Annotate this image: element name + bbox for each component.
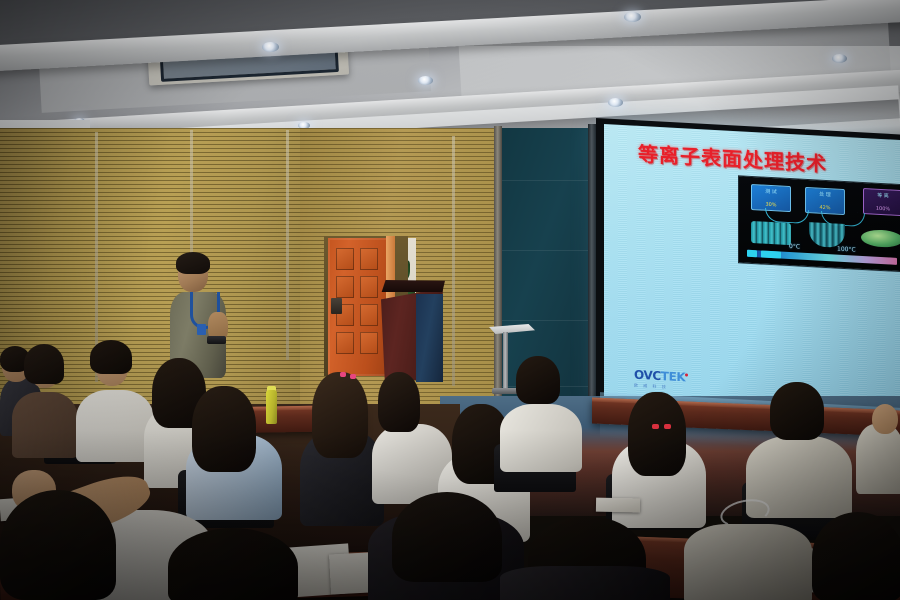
downlight-icon	[262, 42, 279, 52]
brand-logo: OVCTEK 欧 威 科 技	[634, 368, 688, 392]
slide-diagram: 测 试 30% 处 理 42% 等 离 100% 0°C 100°C	[738, 175, 900, 272]
audience-hair-front	[392, 492, 502, 582]
wall-trim	[494, 126, 502, 428]
audience-body-front	[500, 566, 670, 600]
diagram-panel-3-sub: 100%	[864, 205, 900, 213]
wall-seam	[286, 130, 289, 360]
diagram-panel-1-label: 测 试	[752, 187, 790, 196]
handout-paper[interactable]	[596, 498, 640, 513]
diagram-panel-3-label: 等 离	[864, 191, 900, 200]
audience-hair-front	[812, 512, 900, 600]
audience-body-front	[684, 524, 812, 600]
diagram-panel-3: 等 离 100%	[863, 188, 900, 216]
presenter-badge	[197, 324, 206, 335]
presenter-hair	[176, 252, 210, 274]
hair-clip-icon	[340, 372, 346, 377]
downlight-icon	[832, 54, 847, 63]
diagram-panel-2-label: 处 理	[806, 190, 844, 199]
audience-hair	[90, 340, 132, 374]
wall-seam	[452, 136, 455, 386]
audience-head	[872, 404, 898, 434]
audience-hair	[516, 356, 560, 404]
logo-text-dark: OVC	[634, 368, 661, 383]
temperature-swatch	[747, 250, 757, 258]
downlight-icon	[418, 76, 433, 85]
diagram-coil-shape	[751, 221, 791, 245]
lecture-hall-photo: 等离子表面处理技术 测 试 30% 处 理 42% 等 离 100% 0°C	[0, 0, 900, 600]
audience-hair	[628, 392, 686, 476]
hair-clip-icon	[350, 374, 356, 379]
audience-hair	[24, 344, 64, 384]
logo-dot-icon	[685, 373, 688, 376]
downlight-icon	[624, 12, 641, 22]
hair-tie-icon	[652, 424, 659, 429]
podium-side	[416, 294, 443, 382]
beverage-bottle	[266, 390, 277, 424]
audience-body	[12, 392, 78, 458]
temperature-swatch	[761, 251, 781, 259]
audience-hair-front	[168, 528, 298, 600]
projection-screen[interactable]: 等离子表面处理技术 测 试 30% 处 理 42% 等 离 100% 0°C	[604, 124, 900, 416]
diagram-droplet-shape	[861, 229, 900, 248]
door-handle-icon[interactable]	[331, 298, 342, 314]
audience-body	[856, 424, 900, 494]
temperature-min-label: 0°C	[789, 243, 800, 251]
audience-hair	[770, 382, 824, 440]
temperature-max-label: 100°C	[837, 246, 856, 254]
wall-trim	[588, 124, 596, 424]
audience-hair	[378, 372, 420, 432]
audience-hair	[192, 386, 256, 472]
downlight-icon	[608, 98, 623, 107]
audience-hair-front	[0, 490, 116, 600]
presentation-remote[interactable]	[207, 336, 226, 344]
audience-body	[500, 404, 582, 472]
audience-body	[76, 390, 154, 462]
audience-hair	[312, 372, 368, 458]
equipment-stand-pole	[503, 332, 508, 392]
diagram-basket-shape	[809, 222, 845, 248]
hair-tie-icon	[664, 424, 671, 429]
podium-top	[379, 280, 445, 292]
logo-text-light: TEK	[661, 369, 685, 384]
logo-wordmark: OVCTEK	[634, 368, 688, 385]
